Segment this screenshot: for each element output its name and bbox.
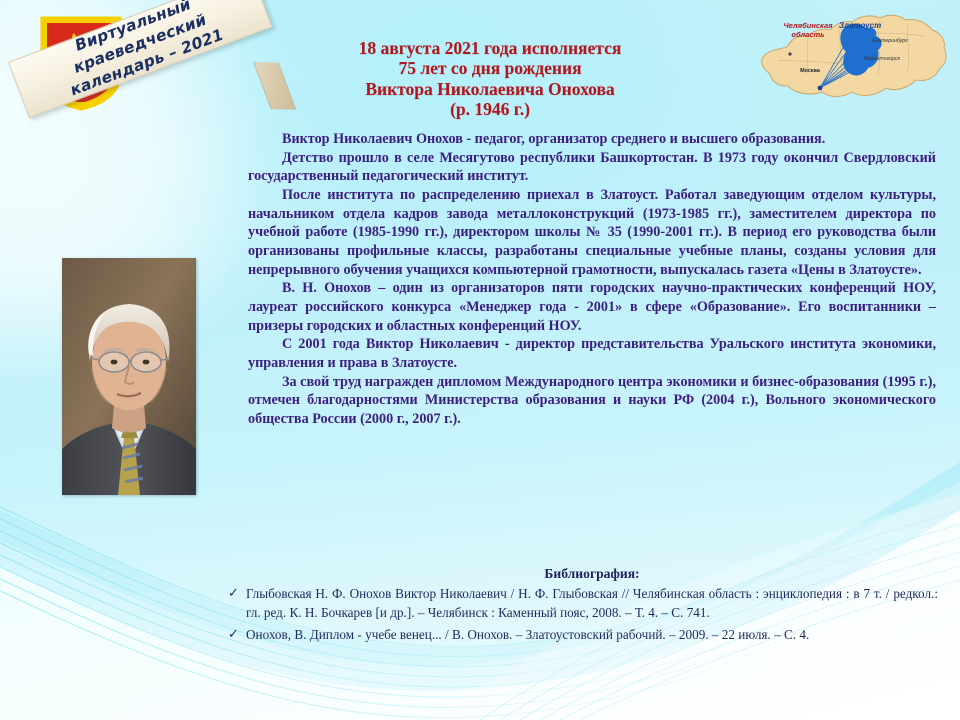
title-line-4: (р. 1946 г.)	[280, 99, 700, 119]
bibliography-item: ✓ Онохов, В. Диплом - учебе венец... / В…	[228, 626, 938, 645]
svg-text:Златоуст: Златоуст	[839, 21, 881, 30]
title-line-1: 18 августа 2021 года исполняется	[280, 38, 700, 58]
checkmark-icon: ✓	[228, 585, 239, 603]
bibliography-list: ✓ Глыбовская Н. Ф. Онохов Виктор Николае…	[228, 585, 938, 649]
biography-paragraph: Детство прошло в селе Месягутово республ…	[248, 149, 936, 186]
slide-canvas: Виртуальный краеведческий календарь – 20…	[0, 0, 960, 720]
biography-paragraph: В. Н. Онохов – один из организаторов пят…	[248, 279, 936, 335]
russia-map-badge: Челябинская область Златоуст Екатеринбур…	[748, 2, 954, 114]
portrait-photo	[62, 258, 196, 495]
biography-paragraph: После института по распределению приехал…	[248, 186, 936, 279]
biography-paragraph: Виктор Николаевич Онохов - педагог, орга…	[248, 130, 936, 149]
bibliography-item: ✓ Глыбовская Н. Ф. Онохов Виктор Николае…	[228, 585, 938, 622]
svg-text:Магнитогорск: Магнитогорск	[864, 56, 901, 62]
biography-text: Виктор Николаевич Онохов - педагог, орга…	[248, 130, 936, 429]
svg-text:область: область	[791, 30, 825, 39]
bibliography-item-text: Глыбовская Н. Ф. Онохов Виктор Николаеви…	[246, 585, 938, 622]
svg-text:Челябинская: Челябинская	[783, 21, 833, 30]
bibliography-heading: Библиография:	[248, 566, 936, 582]
title-line-2: 75 лет со дня рождения	[280, 58, 700, 78]
title-line-3: Виктора Николаевича Онохова	[280, 79, 700, 99]
checkmark-icon: ✓	[228, 626, 239, 644]
biography-paragraph: За свой труд награжден дипломом Междунар…	[248, 373, 936, 429]
svg-text:Москва: Москва	[800, 68, 821, 74]
svg-text:Екатеринбург: Екатеринбург	[872, 38, 908, 44]
page-title: 18 августа 2021 года исполняется 75 лет …	[280, 38, 700, 120]
bibliography-item-text: Онохов, В. Диплом - учебе венец... / В. …	[246, 626, 938, 645]
biography-paragraph: С 2001 года Виктор Николаевич - директор…	[248, 335, 936, 372]
